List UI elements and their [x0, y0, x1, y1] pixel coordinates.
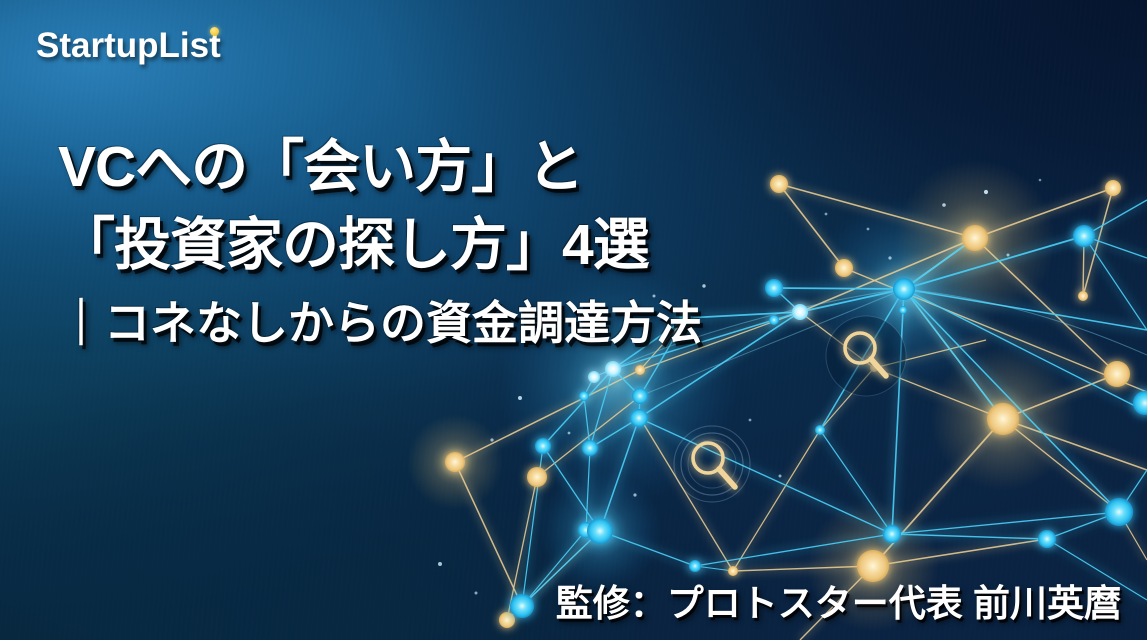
page-title: VCへの「会い方」と 「投資家の探し方」4選 ｜コネなしからの資金調達方法	[58, 128, 818, 356]
title-line-3: ｜コネなしからの資金調達方法	[58, 290, 818, 356]
brand-logo-text-startup: Startup	[36, 26, 159, 65]
brand-logo[interactable]: StartupList	[36, 28, 221, 63]
supervisor-credit: 監修：プロトスター代表 前川英麿	[556, 583, 1121, 626]
title-line-1: VCへの「会い方」と	[58, 128, 818, 206]
title-card: StartupList VCへの「会い方」と 「投資家の探し方」4選 ｜コネなし…	[0, 0, 1147, 640]
gold-dot-icon	[210, 27, 219, 36]
title-line-2: 「投資家の探し方」4選	[58, 206, 818, 284]
